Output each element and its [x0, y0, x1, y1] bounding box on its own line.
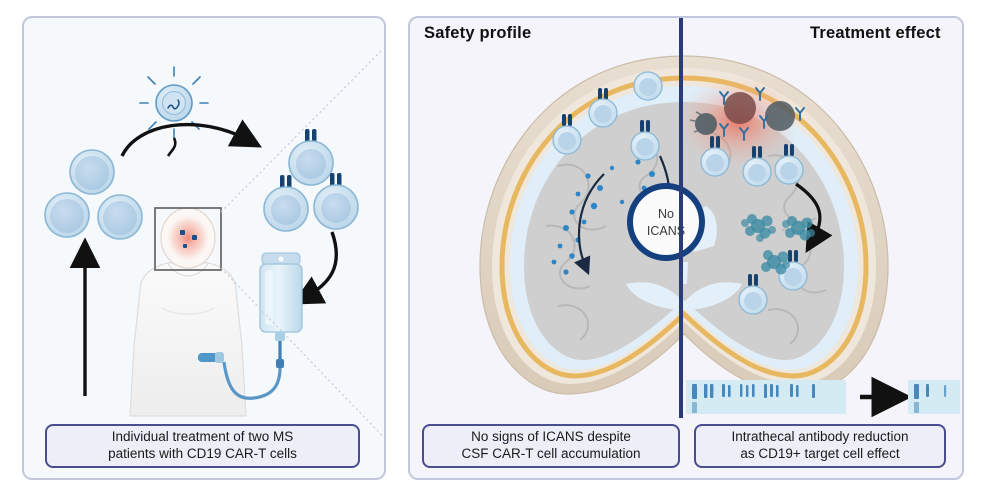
caption-left-line2: patients with CD19 CAR-T cells: [108, 446, 297, 461]
figure-root: Individual treatment of two MS patients …: [0, 0, 982, 493]
lentiviral-vector-icon: [140, 67, 208, 138]
caption-safety-profile: No signs of ICANS despite CSF CAR-T cell…: [422, 424, 680, 468]
caption-right-line2: as CD19+ target cell effect: [740, 446, 899, 461]
caption-mid-line1: No signs of ICANS despite: [471, 429, 631, 444]
caption-left-panel: Individual treatment of two MS patients …: [45, 424, 360, 468]
arrow-infusion: [304, 232, 336, 298]
hemisphere-divider: [679, 18, 683, 418]
badge-line1: No: [658, 207, 674, 221]
arrow-transduction: [122, 125, 250, 156]
caption-right-line1: Intrathecal antibody reduction: [731, 429, 908, 444]
left-panel-artwork: [22, 16, 382, 476]
no-icans-badge: No ICANS: [630, 186, 702, 258]
oligoclonal-band-gels: [686, 380, 960, 414]
right-panel-artwork: No ICANS: [408, 16, 960, 476]
caption-left-line1: Individual treatment of two MS: [112, 429, 294, 444]
caption-treatment-effect: Intrathecal antibody reduction as CD19+ …: [694, 424, 946, 468]
inset-connector-top: [221, 38, 382, 212]
cart-cell-group: [264, 129, 358, 231]
vector-stalk: [168, 138, 175, 156]
caption-mid-line2: CSF CAR-T cell accumulation: [461, 446, 640, 461]
tcell-group: [45, 150, 142, 239]
